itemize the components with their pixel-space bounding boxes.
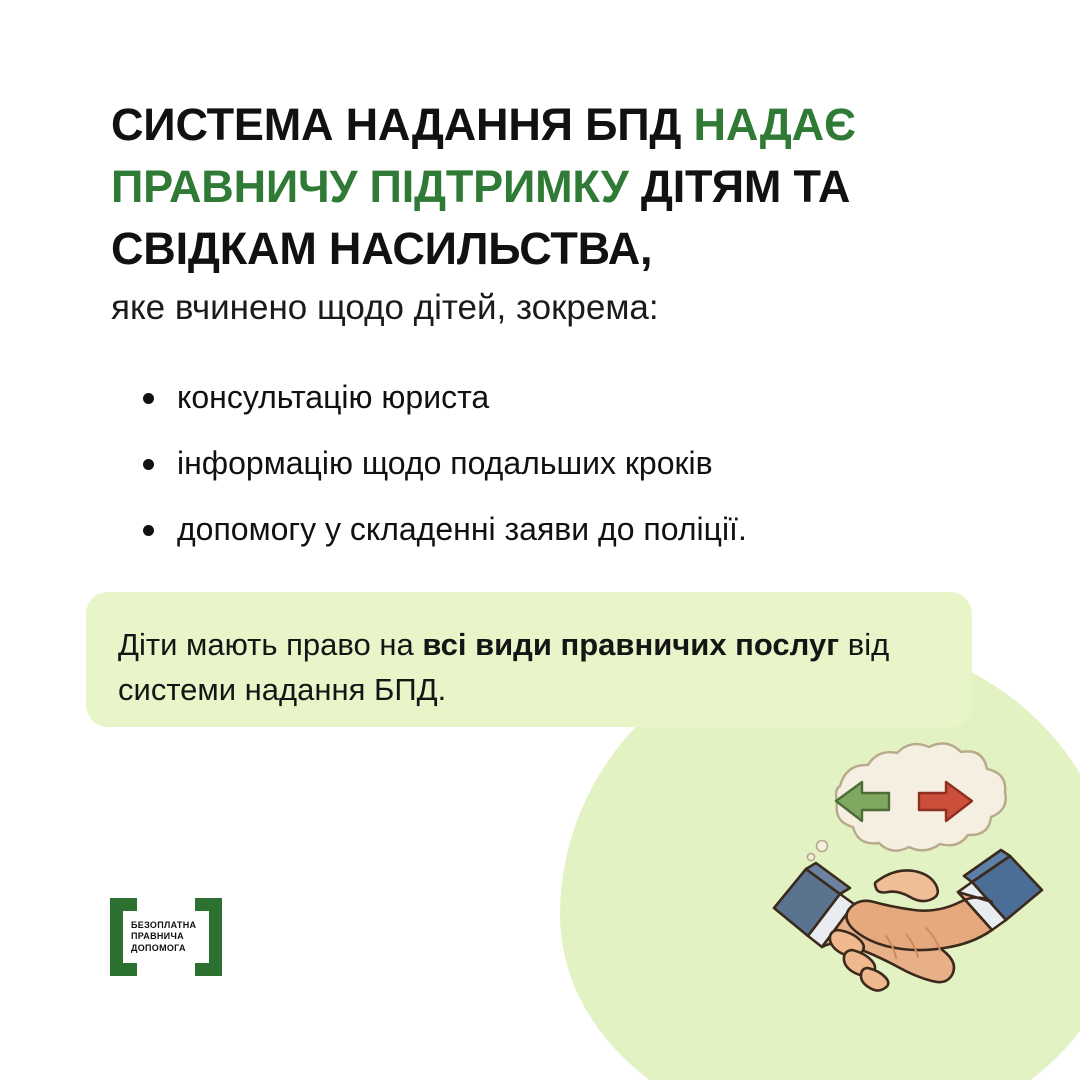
bullet-dot-icon — [143, 393, 154, 404]
list-item-label: консультацію юриста — [177, 379, 489, 415]
callout-box: Діти мають право на всі види правничих п… — [86, 592, 972, 727]
callout-lead: Діти мають право на — [118, 627, 422, 662]
subtitle: яке вчинено щодо дітей, зокрема: — [111, 285, 991, 331]
headline-part1: СИСТЕМА НАДАННЯ БПД — [111, 99, 694, 150]
logo-notch-top — [137, 898, 195, 911]
logo-text-plate: БЕЗОПЛАТНА ПРАВНИЧА ДОПОМОГА — [123, 911, 209, 963]
logo-line-1: БЕЗОПЛАТНА — [131, 920, 209, 932]
handshake-illustration — [758, 722, 1058, 1022]
logo-notch-bottom — [137, 963, 195, 976]
brand-logo: БЕЗОПЛАТНА ПРАВНИЧА ДОПОМОГА — [110, 898, 222, 976]
list-item-label: інформацію щодо подальших кроків — [177, 445, 713, 481]
services-list: консультацію юриста інформацію щодо пода… — [140, 378, 990, 576]
thought-bubble-dots-icon — [807, 841, 827, 861]
page-title: СИСТЕМА НАДАННЯ БПД НАДАЄ ПРАВНИЧУ ПІДТР… — [111, 94, 971, 280]
logo-line-2: ПРАВНИЧА — [131, 931, 209, 943]
bullet-dot-icon — [143, 459, 154, 470]
poster-canvas: СИСТЕМА НАДАННЯ БПД НАДАЄ ПРАВНИЧУ ПІДТР… — [0, 0, 1080, 1080]
list-item: консультацію юриста — [140, 378, 990, 416]
list-item-label: допомогу у складенні заяви до поліції. — [177, 511, 747, 547]
bullet-dot-icon — [143, 525, 154, 536]
callout-text: Діти мають право на всі види правничих п… — [118, 622, 938, 712]
list-item: інформацію щодо подальших кроків — [140, 444, 990, 482]
handshake-hands-icon — [774, 850, 1042, 991]
callout-bold: всі види правничих послуг — [422, 627, 839, 662]
list-item: допомогу у складенні заяви до поліції. — [140, 510, 990, 548]
logo-line-3: ДОПОМОГА — [131, 943, 209, 955]
